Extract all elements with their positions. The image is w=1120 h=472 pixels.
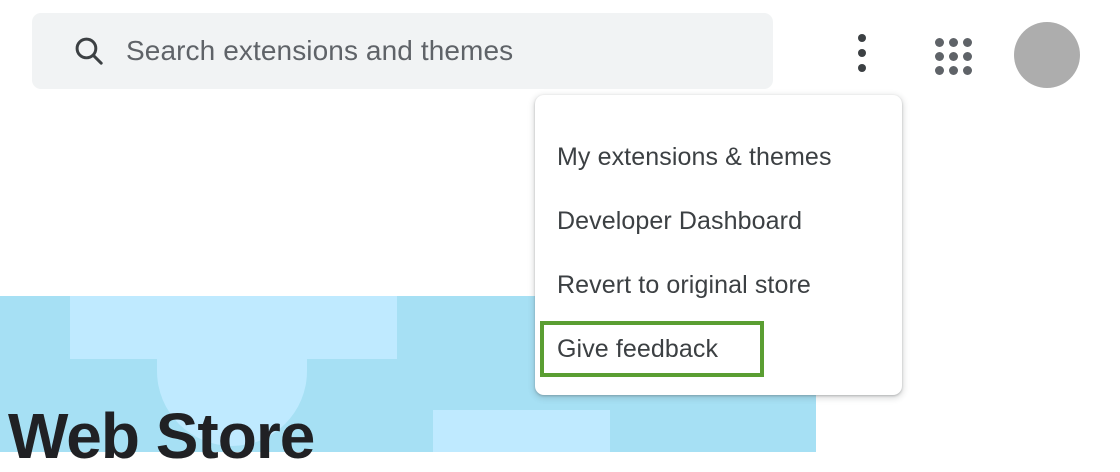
- decorative-rect-bottom: [433, 410, 610, 452]
- apps-grid-dot: [963, 38, 972, 47]
- apps-grid-dot: [963, 66, 972, 75]
- apps-grid-dot: [949, 52, 958, 61]
- menu-item-give-feedback[interactable]: Give feedback: [540, 321, 764, 377]
- search-input[interactable]: [126, 31, 726, 71]
- more-vert-dot: [858, 64, 866, 72]
- overflow-dropdown-menu: My extensions & themes Developer Dashboa…: [535, 95, 902, 395]
- more-vert-dot: [858, 49, 866, 57]
- apps-grid-dot: [949, 66, 958, 75]
- apps-grid-dot: [935, 66, 944, 75]
- apps-grid-icon[interactable]: [926, 30, 978, 80]
- avatar[interactable]: [1014, 22, 1080, 88]
- search-bar[interactable]: [32, 13, 773, 89]
- apps-grid-dot: [949, 38, 958, 47]
- menu-item-developer-dashboard[interactable]: Developer Dashboard: [535, 189, 902, 253]
- apps-grid-dot: [935, 38, 944, 47]
- apps-grid-dot: [935, 52, 944, 61]
- more-vert-dot: [858, 34, 866, 42]
- search-icon: [72, 34, 106, 68]
- menu-item-revert-to-original-store[interactable]: Revert to original store: [535, 253, 902, 317]
- apps-grid-dot: [963, 52, 972, 61]
- page-title: Web Store: [8, 404, 314, 468]
- menu-item-my-extensions-and-themes[interactable]: My extensions & themes: [535, 125, 902, 189]
- more-vert-icon[interactable]: [838, 27, 886, 79]
